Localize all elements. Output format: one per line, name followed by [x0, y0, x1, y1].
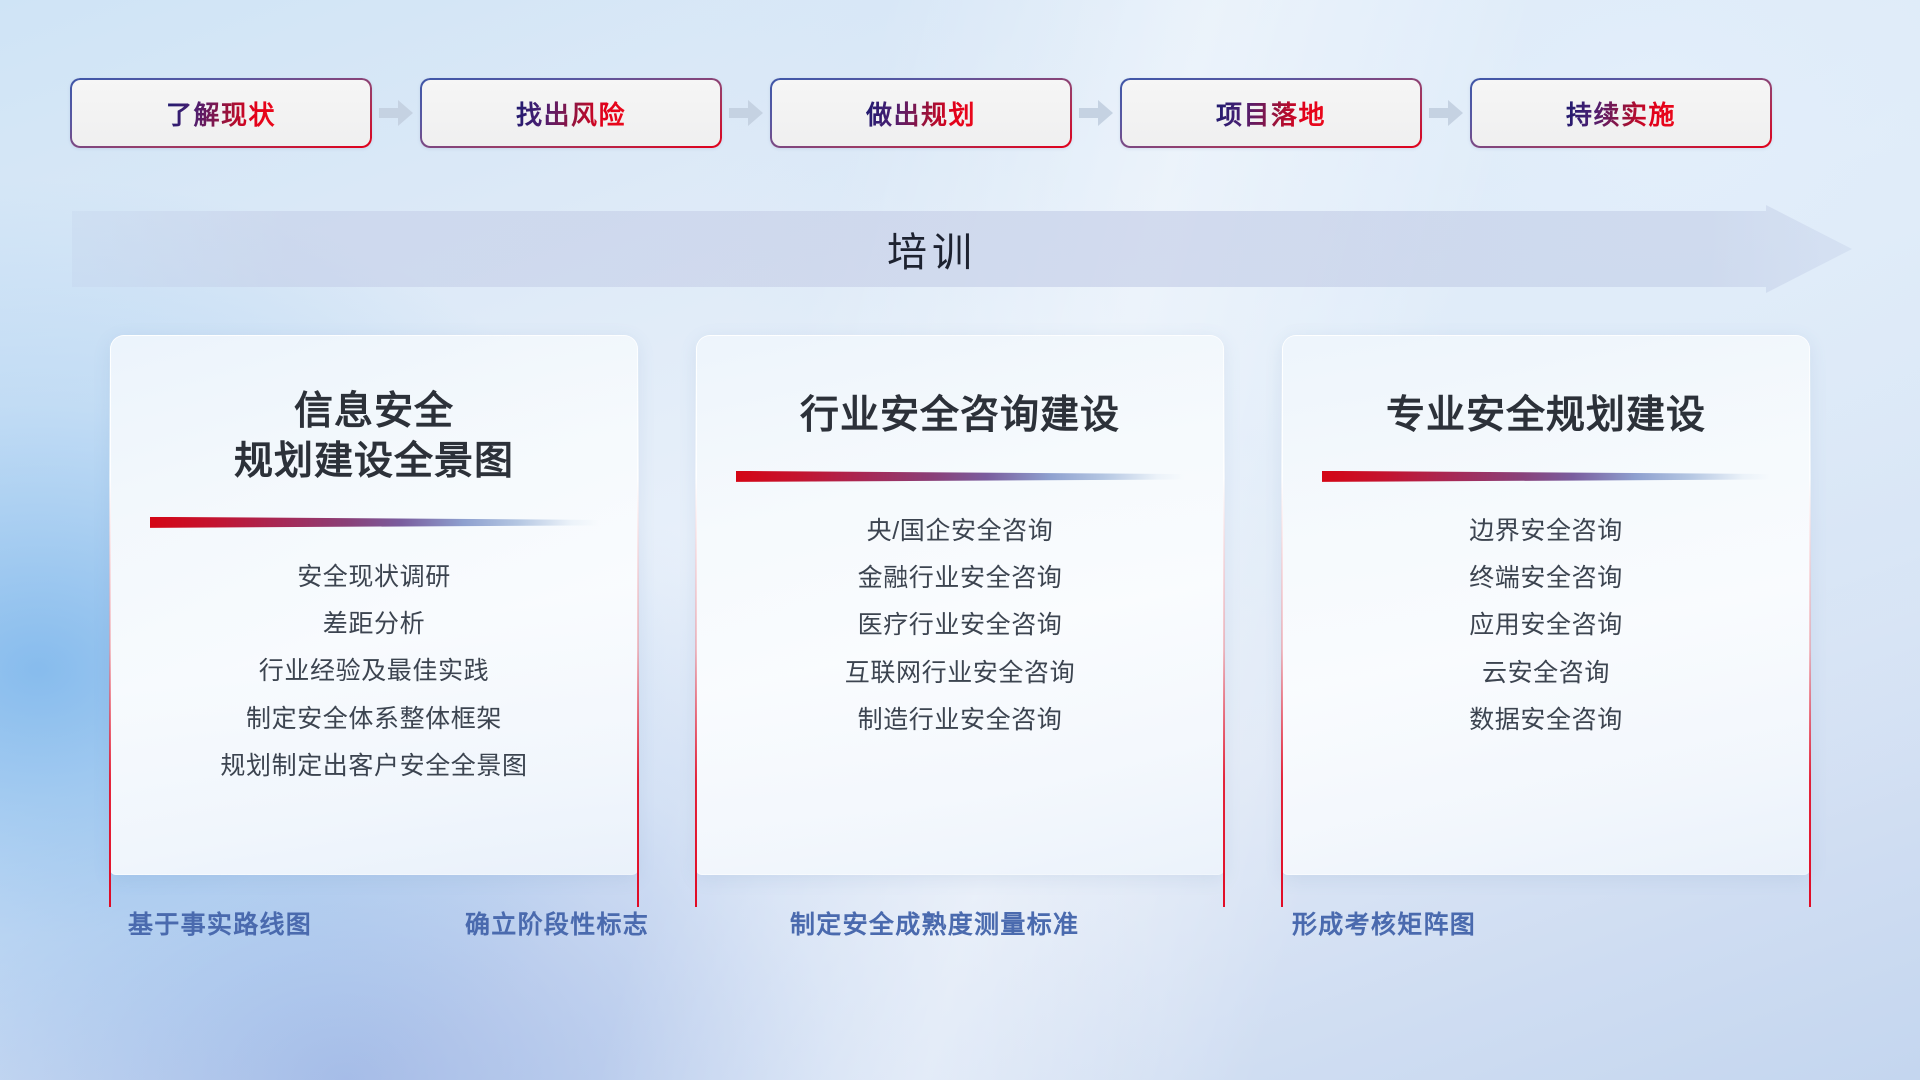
list-item: 应用安全咨询: [1469, 610, 1623, 641]
banner-title: 培训: [72, 205, 1852, 293]
step-chip-label-5: 持续实施: [1566, 95, 1676, 132]
list-item: 边界安全咨询: [1469, 516, 1623, 547]
arrow-right-icon-3: [1072, 78, 1120, 148]
step-chip-1[interactable]: 了解现状: [70, 78, 372, 148]
card-2-right-rail: [1223, 335, 1225, 907]
list-item: 终端安全咨询: [1469, 563, 1623, 594]
card-2-item-list: 央/国企安全咨询 金融行业安全咨询 医疗行业安全咨询 互联网行业安全咨询 制造行…: [722, 516, 1198, 736]
process-step-list: 了解现状 找出风险 做出规划: [70, 78, 1860, 148]
card-3-title: 专业安全规划建设: [1308, 391, 1784, 441]
training-banner: 培训: [72, 205, 1852, 293]
step-chip-label-2: 找出风险: [516, 95, 626, 132]
card-2-title: 行业安全咨询建设: [722, 391, 1198, 441]
step-chip-label-1: 了解现状: [166, 95, 276, 132]
list-item: 金融行业安全咨询: [858, 563, 1063, 594]
footer-label-2: 确立阶段性标志: [465, 905, 649, 941]
card-1-item-list: 安全现状调研 差距分析 行业经验及最佳实践 制定安全体系整体框架 规划制定出客户…: [136, 562, 612, 782]
step-chip-label-3: 做出规划: [866, 95, 976, 132]
list-item: 互联网行业安全咨询: [845, 658, 1075, 689]
footer-label-group: 基于事实路线图 确立阶段性标志 制定安全成熟度测量标准 形成考核矩阵图: [0, 905, 1920, 965]
step-chip-label-4: 项目落地: [1216, 95, 1326, 132]
list-item: 数据安全咨询: [1469, 705, 1623, 736]
list-item: 差距分析: [323, 609, 425, 640]
card-3-right-rail: [1809, 335, 1811, 907]
card-1-left-rail: [109, 335, 111, 907]
step-chip-5[interactable]: 持续实施: [1470, 78, 1772, 148]
step-item-5[interactable]: 持续实施: [1470, 78, 1772, 148]
slide-canvas: 了解现状 找出风险 做出规划: [0, 0, 1920, 1080]
card-3-item-list: 边界安全咨询 终端安全咨询 应用安全咨询 云安全咨询 数据安全咨询: [1308, 516, 1784, 736]
list-item: 央/国企安全咨询: [867, 516, 1054, 547]
card-1[interactable]: 信息安全 规划建设全景图 安全现状调研 差距分析 行业经验及最佳实践 制定安全体…: [110, 335, 638, 875]
card-1-right-rail: [637, 335, 639, 907]
step-item-1[interactable]: 了解现状: [70, 78, 372, 148]
step-chip-2[interactable]: 找出风险: [420, 78, 722, 148]
arrow-right-icon-4: [1422, 78, 1470, 148]
card-3-left-rail: [1281, 335, 1283, 907]
card-2-left-rail: [695, 335, 697, 907]
card-2-divider: [736, 471, 1184, 482]
step-chip-4[interactable]: 项目落地: [1120, 78, 1422, 148]
list-item: 制定安全体系整体框架: [246, 704, 502, 735]
card-3-divider: [1322, 471, 1770, 482]
card-3[interactable]: 专业安全规划建设 边界安全咨询 终端安全咨询 应用安全咨询 云安全咨询 数据安全…: [1282, 335, 1810, 875]
card-1-title: 信息安全 规划建设全景图: [136, 387, 612, 487]
list-item: 制造行业安全咨询: [858, 705, 1063, 736]
step-item-3[interactable]: 做出规划: [770, 78, 1072, 148]
list-item: 行业经验及最佳实践: [259, 656, 489, 687]
step-item-4[interactable]: 项目落地: [1120, 78, 1422, 148]
card-group: 信息安全 规划建设全景图 安全现状调研 差距分析 行业经验及最佳实践 制定安全体…: [110, 335, 1810, 875]
list-item: 医疗行业安全咨询: [858, 610, 1063, 641]
card-2[interactable]: 行业安全咨询建设 央/国企安全咨询 金融行业安全咨询 医疗行业安全咨询 互联网行…: [696, 335, 1224, 875]
step-item-2[interactable]: 找出风险: [420, 78, 722, 148]
step-chip-3[interactable]: 做出规划: [770, 78, 1072, 148]
arrow-right-icon-2: [722, 78, 770, 148]
arrow-right-icon-1: [372, 78, 420, 148]
list-item: 安全现状调研: [297, 562, 451, 593]
footer-label-3: 制定安全成熟度测量标准: [790, 905, 1079, 941]
card-1-divider: [150, 517, 598, 528]
footer-label-1: 基于事实路线图: [128, 905, 312, 941]
footer-label-4: 形成考核矩阵图: [1292, 905, 1476, 941]
list-item: 云安全咨询: [1482, 658, 1610, 689]
list-item: 规划制定出客户安全全景图: [220, 751, 527, 782]
